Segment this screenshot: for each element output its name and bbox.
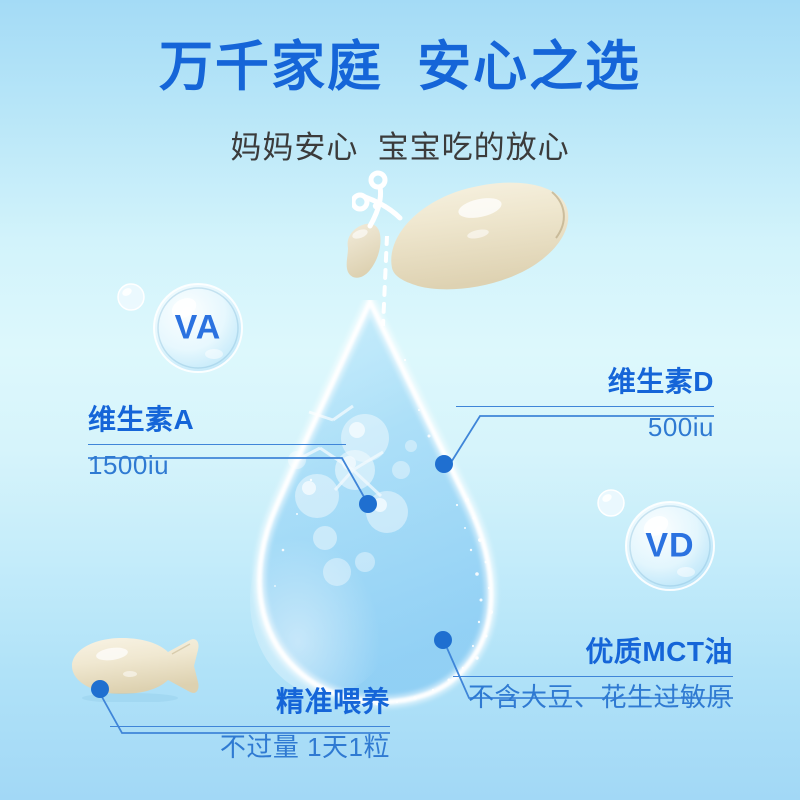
callout-vitamin-d-rule — [456, 406, 714, 407]
callout-vitamin-d-value: 500iu — [456, 413, 714, 443]
callout-vitamin-a-value: 1500iu — [88, 451, 346, 481]
callout-vitamin-d: 维生素D 500iu — [456, 366, 714, 443]
callout-mct-oil-value: 不含大豆、花生过敏原 — [453, 683, 733, 713]
dashed-cut-line — [378, 236, 394, 326]
callout-vitamin-a-title: 维生素A — [88, 404, 346, 436]
page-title: 万千家庭 安心之选 — [0, 38, 800, 97]
callout-precise-feeding: 精准喂养 不过量 1天1粒 — [110, 686, 390, 763]
bubble-vd: VD — [624, 500, 716, 592]
bubble-va: VA — [152, 282, 244, 374]
leader-dot-vitamin-d — [435, 455, 453, 473]
callout-mct-oil-rule — [453, 676, 733, 677]
bubble-va-label: VA — [152, 309, 244, 348]
promo-banner: VA VD — [0, 0, 800, 800]
callout-vitamin-d-title: 维生素D — [456, 366, 714, 398]
callout-mct-oil: 优质MCT油 不含大豆、花生过敏原 — [453, 636, 733, 713]
callout-precise-feeding-value: 不过量 1天1粒 — [110, 733, 390, 763]
callout-precise-feeding-rule — [110, 726, 390, 727]
callout-precise-feeding-title: 精准喂养 — [110, 686, 390, 718]
leader-dot-vitamin-a — [359, 495, 377, 513]
bubble-va-small — [116, 282, 146, 312]
callout-vitamin-a: 维生素A 1500iu — [88, 404, 346, 481]
callout-vitamin-a-rule — [88, 444, 346, 445]
leader-dot-precise-feeding — [91, 680, 109, 698]
page-subtitle: 妈妈安心 宝宝吃的放心 — [0, 122, 800, 167]
bubble-vd-small — [596, 488, 626, 518]
bubble-vd-label: VD — [624, 527, 716, 566]
callout-mct-oil-title: 优质MCT油 — [453, 636, 733, 668]
leader-dot-mct-oil — [434, 631, 452, 649]
scissors-icon — [352, 168, 412, 236]
